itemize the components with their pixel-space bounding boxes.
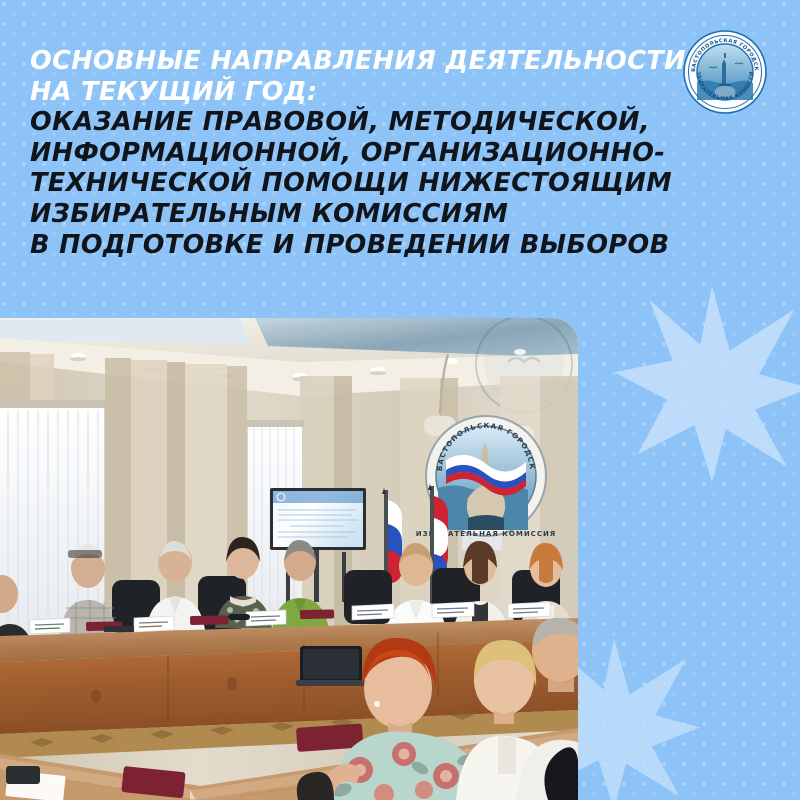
headline-line-3: ОКАЗАНИЕ ПРАВОВОЙ, МЕТОДИЧЕСКОЙ, <box>30 107 650 138</box>
commission-emblem-icon: СЕВАСТОПОЛЬСКАЯ ГОРОДСКАЯ ИЗБИРАТЕЛЬНАЯ … <box>681 28 769 116</box>
headline-line-4: ИНФОРМАЦИОННОЙ, ОРГАНИЗАЦИОННО- <box>30 138 650 169</box>
headline-line-2: НА ТЕКУЩИЙ ГОД: <box>30 77 650 108</box>
star-upper-right-icon <box>614 286 800 482</box>
infographic-card: ОСНОВНЫЕ НАПРАВЛЕНИЯ ДЕЯТЕЛЬНОСТИ НА ТЕК… <box>0 0 800 800</box>
headline-line-5: ТЕХНИЧЕСКОЙ ПОМОЩИ НИЖЕСТОЯЩИМ <box>30 168 650 199</box>
meeting-room-photo: СЕВАСТОПОЛЬСКАЯ ГОРОДСКАЯ ИЗБИРАТЕЛЬНАЯ … <box>0 318 578 800</box>
headline-line-7: В ПОДГОТОВКЕ И ПРОВЕДЕНИИ ВЫБОРОВ <box>30 230 650 261</box>
headline-line-1: ОСНОВНЫЕ НАПРАВЛЕНИЯ ДЕЯТЕЛЬНОСТИ <box>30 46 650 77</box>
headline-line-6: ИЗБИРАТЕЛЬНЫМ КОМИССИЯМ <box>30 199 650 230</box>
headline-block: ОСНОВНЫЕ НАПРАВЛЕНИЯ ДЕЯТЕЛЬНОСТИ НА ТЕК… <box>30 46 650 260</box>
